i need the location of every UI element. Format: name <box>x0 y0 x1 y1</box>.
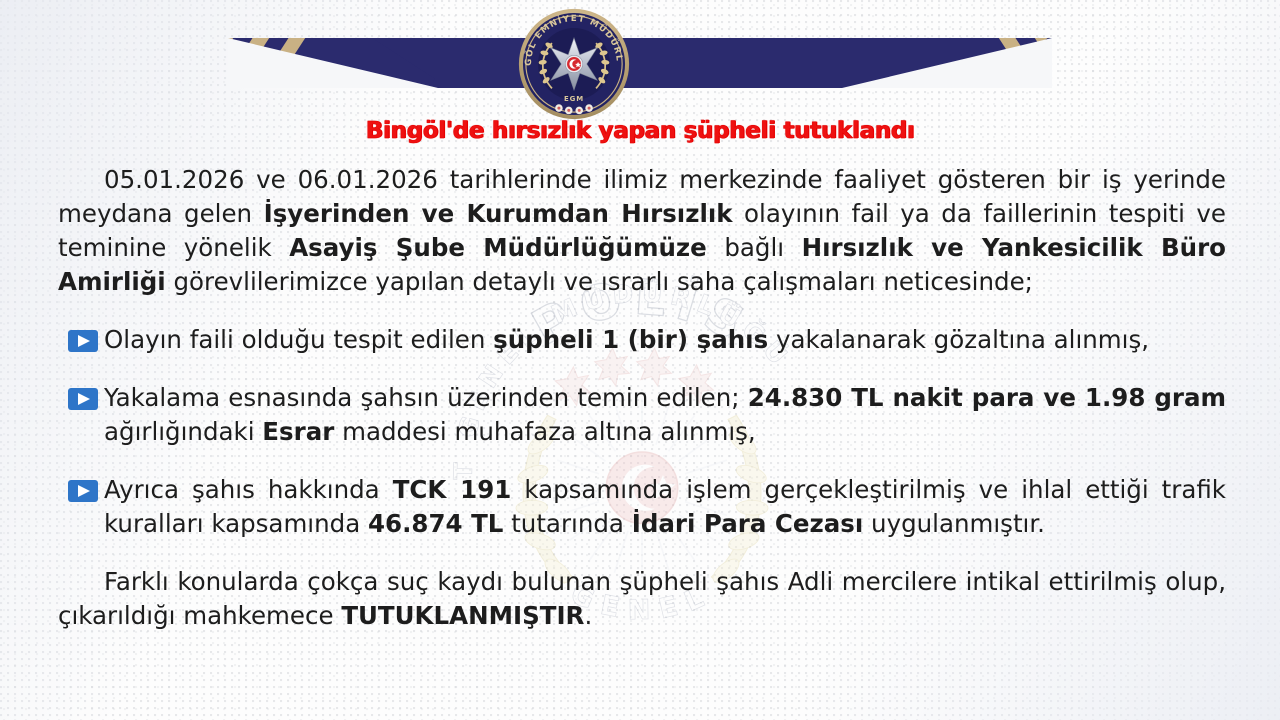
intro-text-g: görevlilerimizce yapılan detaylı ve ısra… <box>166 267 1033 296</box>
intro-text-e: bağlı <box>707 233 802 262</box>
list-item: Yakalama esnasında şahsın üzerinden temi… <box>58 381 1226 449</box>
closing-paragraph: Farklı konularda çokça suç kaydı bulunan… <box>58 565 1226 633</box>
closing-text-a: Farklı konularda çokça suç kaydı bulunan… <box>58 567 1226 630</box>
bullet-2-bold-d: Esrar <box>262 417 334 446</box>
bullet-1-text-a: Olayın faili olduğu tespit edilen <box>104 325 493 354</box>
bullet-1-bold-b: şüpheli 1 (bir) şahıs <box>493 325 768 354</box>
bullet-list: Olayın faili olduğu tespit edilen şüphel… <box>58 323 1226 541</box>
article-body: 05.01.2026 ve 06.01.2026 tarihlerinde il… <box>58 163 1226 633</box>
intro-bold-b: İşyerinden ve Kurumdan Hırsızlık <box>264 199 733 228</box>
page-headline: Bingöl'de hırsızlık yapan şüpheli tutukl… <box>0 118 1280 144</box>
bullet-2-text-a: Yakalama esnasında şahsın üzerinden temi… <box>104 383 748 412</box>
bullet-3-text-e: tutarında <box>503 509 631 538</box>
bullet-3-bold-d: 46.874 TL <box>368 509 503 538</box>
play-bullet-icon <box>68 388 98 410</box>
bullet-2-bold-b: 24.830 TL nakit para ve 1.98 gram <box>748 383 1226 412</box>
intro-bold-d: Asayiş Şube Müdürlüğümüze <box>289 233 707 262</box>
news-document-page: BİNGÖL EMNİYET MÜDÜRLÜĞÜ EG <box>0 0 1280 720</box>
emblem-center-label: EGM <box>564 95 584 103</box>
bullet-3-text-g: uygulanmıştır. <box>863 509 1045 538</box>
bullet-3-text-a: Ayrıca şahıs hakkında <box>104 475 393 504</box>
bullet-2-text-c: ağırlığındaki <box>104 417 262 446</box>
bullet-3-bold-f: İdari Para Cezası <box>632 509 864 538</box>
header-banner <box>0 38 1280 88</box>
intro-paragraph: 05.01.2026 ve 06.01.2026 tarihlerinde il… <box>58 163 1226 299</box>
banner-right-wing <box>842 38 1052 88</box>
bullet-3-bold-b: TCK 191 <box>393 475 512 504</box>
closing-text-c: . <box>584 601 592 630</box>
list-item: Ayrıca şahıs hakkında TCK 191 kapsamında… <box>58 473 1226 541</box>
play-bullet-icon <box>68 330 98 352</box>
banner-right-cut <box>842 38 1052 88</box>
bullet-1-text-c: yakalanarak gözaltına alınmış, <box>768 325 1149 354</box>
play-bullet-icon <box>68 480 98 502</box>
banner-left-wing <box>228 38 438 88</box>
closing-bold-b: TUTUKLANMIŞTIR <box>341 601 584 630</box>
bullet-2-text-e: maddesi muhafaza altına alınmış, <box>334 417 755 446</box>
list-item: Olayın faili olduğu tespit edilen şüphel… <box>58 323 1226 357</box>
bingol-police-emblem-icon: BİNGÖL EMNİYET MÜDÜRLÜĞÜ EG <box>516 6 632 122</box>
